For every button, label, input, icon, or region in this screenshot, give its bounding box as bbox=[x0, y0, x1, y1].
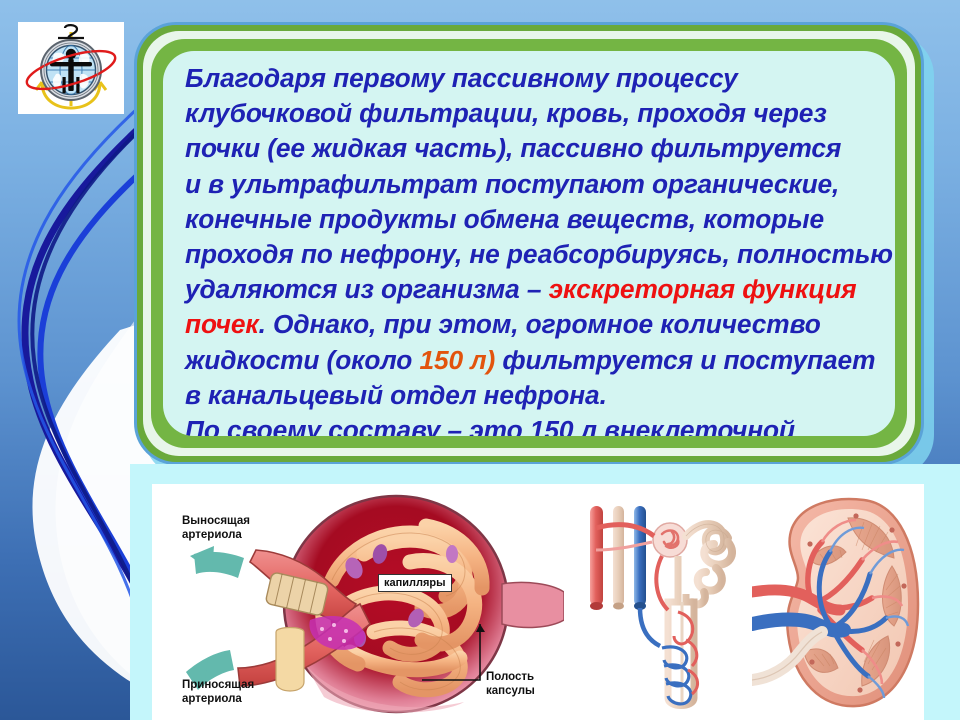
text-line-2: клубочковой фильтрации, кровь, проходя ч… bbox=[185, 96, 875, 131]
panel-border-white: Благодаря первому пассивному процессу кл… bbox=[143, 31, 915, 456]
kidney-diagram bbox=[752, 494, 922, 712]
panel-face: Благодаря первому пассивному процессу кл… bbox=[163, 51, 895, 436]
paragraph-2: По своему составу – это 150 л внеклеточн… bbox=[185, 413, 875, 436]
label-capsule-cavity: Полость капсулы bbox=[486, 670, 535, 698]
panel-border-green-inner: Благодаря первому пассивному процессу кл… bbox=[151, 39, 907, 448]
illustration-canvas: Выносящая артериола Приносящая артериола… bbox=[152, 484, 924, 720]
illustration-panel: Выносящая артериола Приносящая артериола… bbox=[130, 464, 960, 720]
text-line-9: жидкости (около 150 л) фильтруется и пос… bbox=[185, 343, 875, 378]
text-line-3: почки (ее жидкая часть), пассивно фильтр… bbox=[185, 131, 875, 166]
text-line-7-plain: удаляются из организма – bbox=[185, 274, 549, 304]
text-line-1: Благодаря первому пассивному процессу bbox=[185, 61, 875, 96]
emblem-icon bbox=[18, 22, 124, 114]
label-capillaries: капилляры bbox=[378, 574, 452, 592]
excretory-function-highlight: экскреторная функция bbox=[549, 274, 857, 304]
nephron-diagram bbox=[582, 498, 752, 713]
label-efferent-arteriole: Выносящая артериола bbox=[182, 514, 250, 542]
glomerulus-diagram: Выносящая артериола Приносящая артериола… bbox=[164, 492, 564, 717]
text-line-6: проходя по нефрону, не реабсорбируясь, п… bbox=[185, 237, 875, 272]
panel-border-green-outer: Благодаря первому пассивному процессу кл… bbox=[137, 25, 921, 462]
text-line-11: По своему составу – это 150 л внеклеточн… bbox=[185, 413, 875, 436]
university-emblem-logo bbox=[18, 22, 124, 114]
volume-150l-highlight: 150 л) bbox=[419, 345, 495, 375]
text-line-8: почек. Однако, при этом, огромное количе… bbox=[185, 307, 875, 342]
panel-border-outer: Благодаря первому пассивному процессу кл… bbox=[134, 22, 924, 465]
label-afferent-arteriole: Приносящая артериола bbox=[182, 678, 254, 706]
text-line-8-plain: . Однако, при этом, огромное количество bbox=[259, 309, 821, 339]
text-line-7: удаляются из организма – экскреторная фу… bbox=[185, 272, 875, 307]
lecture-body-text: Благодаря первому пассивному процессу кл… bbox=[185, 61, 875, 436]
nephron-illustration bbox=[582, 498, 752, 713]
text-line-4: и в ультрафильтрат поступают органически… bbox=[185, 167, 875, 202]
main-text-panel: Благодаря первому пассивному процессу кл… bbox=[134, 22, 934, 477]
kidney-highlight: почек bbox=[185, 309, 259, 339]
text-line-9-post: фильтруется и поступает bbox=[495, 345, 875, 375]
kidney-illustration bbox=[752, 494, 922, 712]
paragraph-1: Благодаря первому пассивному процессу кл… bbox=[185, 61, 875, 413]
text-line-9-pre: жидкости (около bbox=[185, 345, 419, 375]
text-line-10: в канальцевый отдел нефрона. bbox=[185, 378, 875, 413]
text-line-5: конечные продукты обмена веществ, которы… bbox=[185, 202, 875, 237]
slide-canvas: Благодаря первому пассивному процессу кл… bbox=[0, 0, 960, 720]
